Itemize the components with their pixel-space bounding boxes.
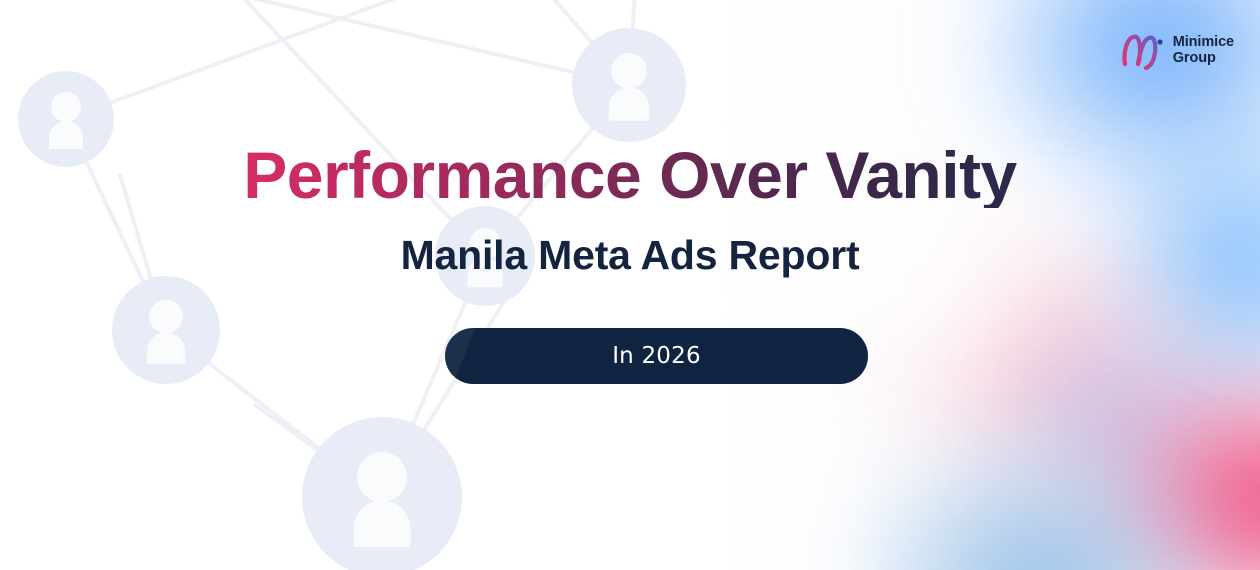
year-pill-badge[interactable]: In 2026: [445, 328, 868, 384]
brand-logo[interactable]: Minimice Group: [1120, 30, 1234, 70]
pill-sheen-highlight: [445, 328, 478, 384]
presentation-slide: Minimice Group Performance Over Vanity M…: [0, 0, 1260, 570]
page-subtitle: Manila Meta Ads Report: [0, 232, 1260, 279]
brand-name-line1: Minimice: [1173, 34, 1234, 50]
year-pill-label: In 2026: [612, 343, 701, 369]
slide-content: Minimice Group Performance Over Vanity M…: [0, 0, 1260, 570]
minimice-swirl-m-logo-icon: [1120, 30, 1166, 70]
brand-name-line2: Group: [1173, 50, 1234, 66]
brand-logo-text: Minimice Group: [1173, 34, 1234, 66]
page-title: Performance Over Vanity: [0, 142, 1260, 208]
